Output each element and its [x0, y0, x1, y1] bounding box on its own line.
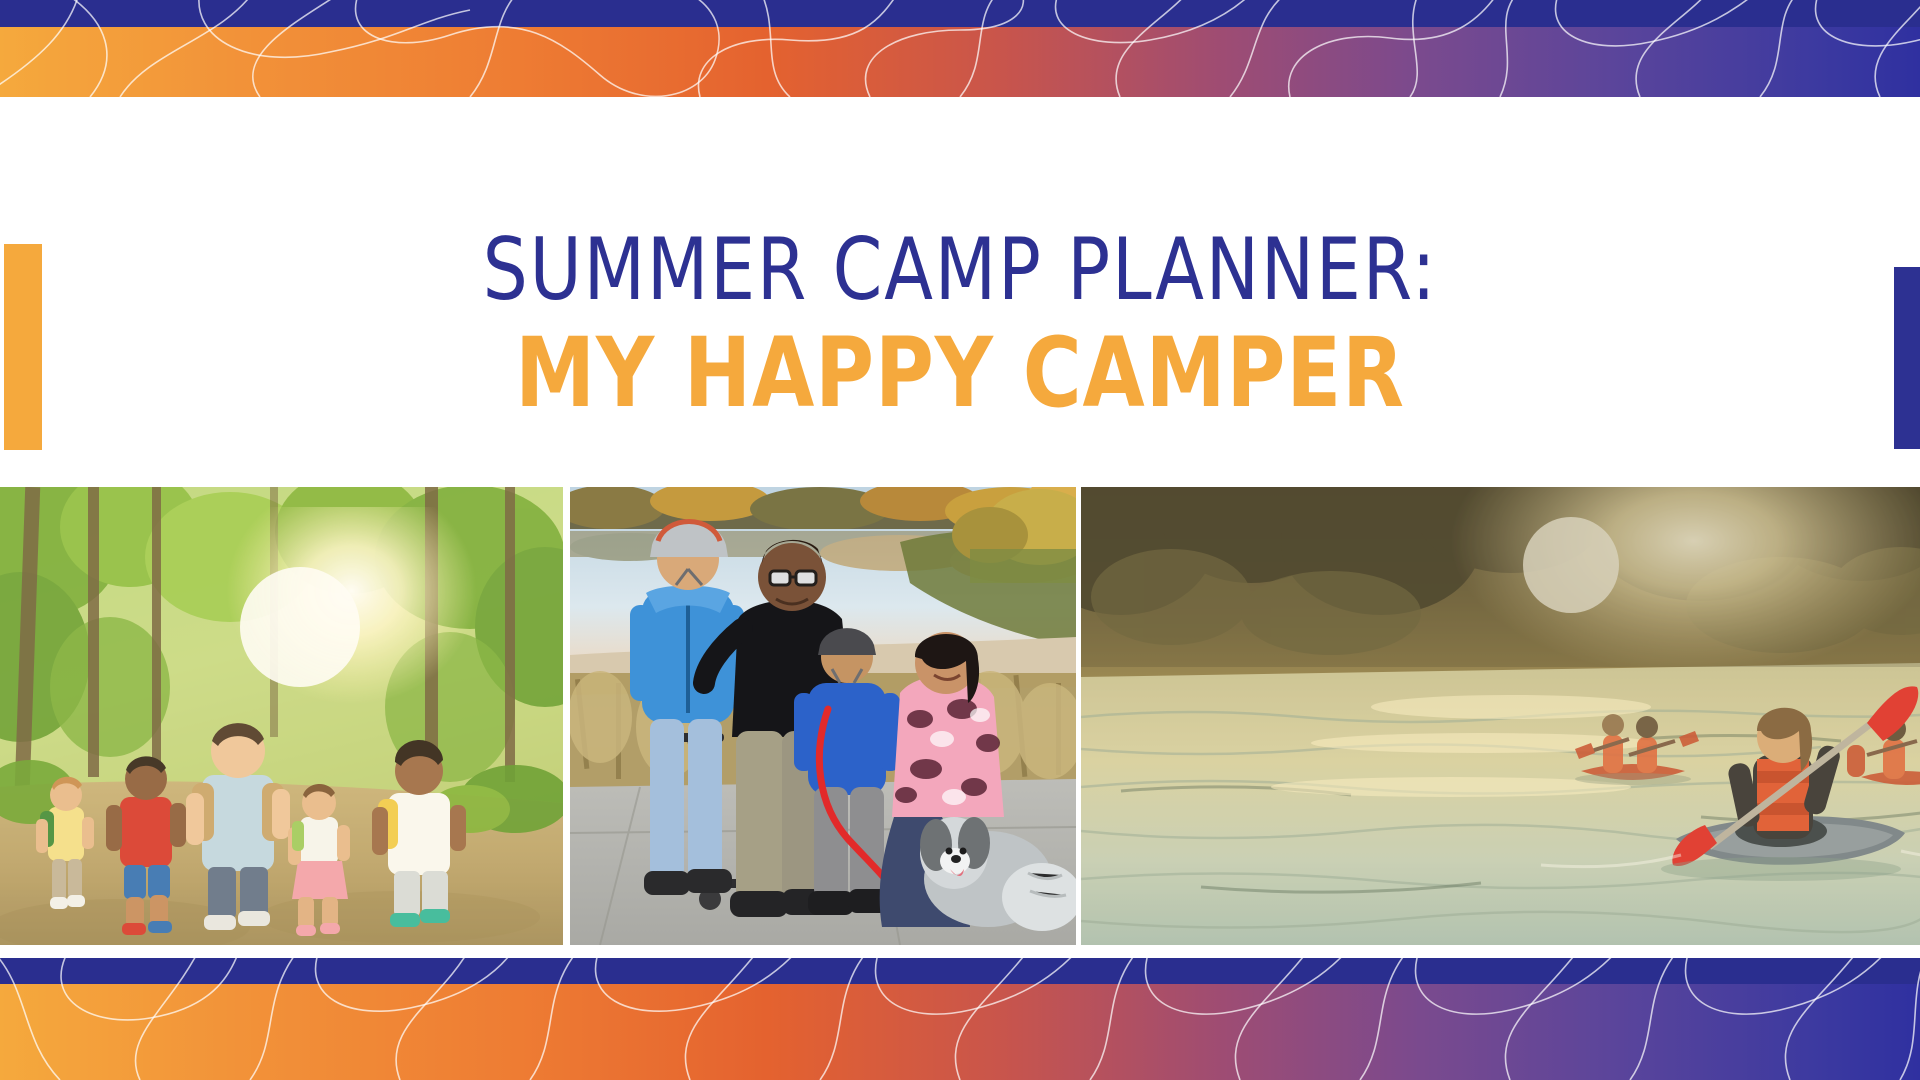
photo-row: [0, 487, 1920, 945]
title-line-primary: SUMMER CAMP PLANNER:: [77, 227, 1843, 315]
title-zone: SUMMER CAMP PLANNER: MY HAPPY CAMPER: [0, 97, 1920, 487]
photo-family-by-lake: [570, 487, 1076, 945]
page-title: SUMMER CAMP PLANNER: MY HAPPY CAMPER: [0, 227, 1920, 424]
bottom-squiggle-pattern: [0, 958, 1920, 1080]
photo-kayakers-on-lake: [1081, 487, 1920, 945]
title-line-secondary: MY HAPPY CAMPER: [67, 323, 1853, 424]
summer-camp-banner: SUMMER CAMP PLANNER: MY HAPPY CAMPER: [0, 0, 1920, 1080]
bottom-decorative-strip: [0, 958, 1920, 1080]
top-decorative-strip: [0, 0, 1920, 97]
photo-kids-running-forest: [0, 487, 563, 945]
top-squiggle-pattern: [0, 0, 1920, 97]
